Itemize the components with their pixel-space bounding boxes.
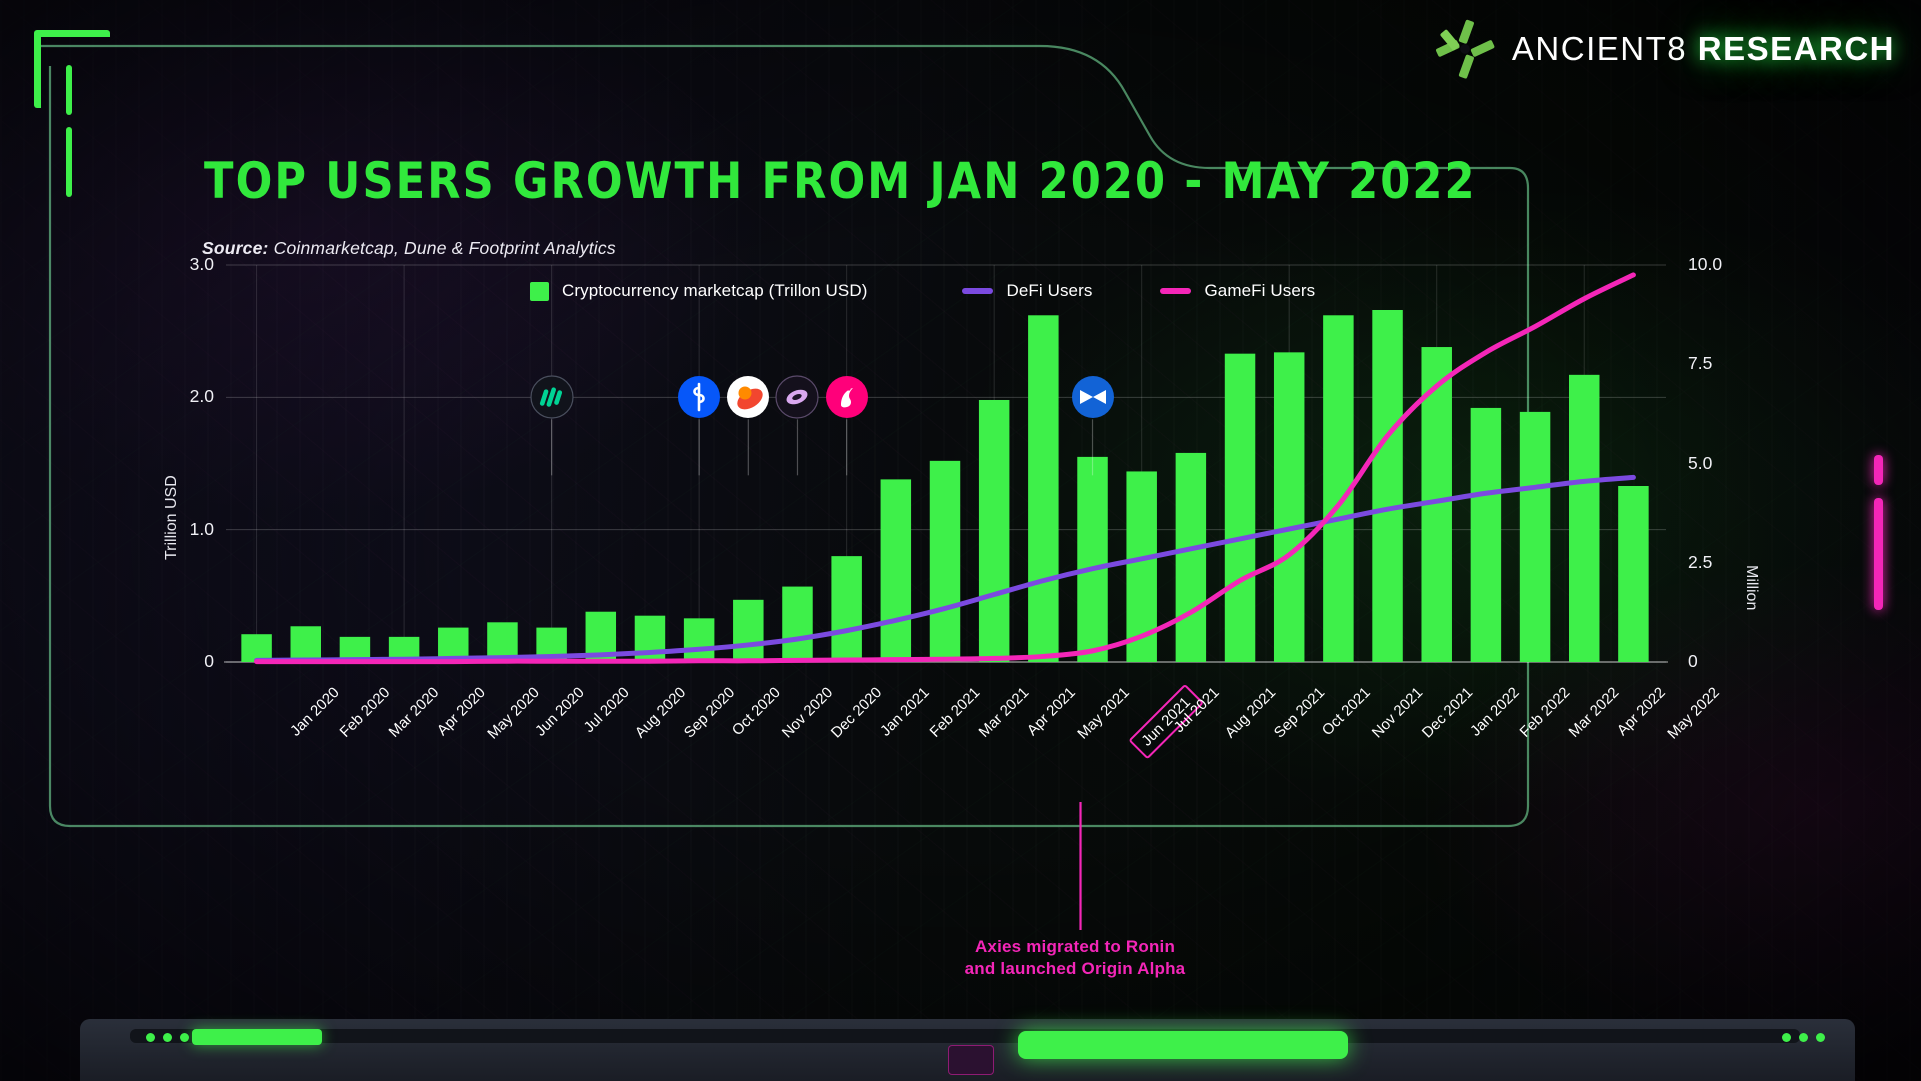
brand-name: ANCIENT8 RESEARCH bbox=[1512, 30, 1895, 68]
corner-tick-icon bbox=[66, 65, 72, 115]
status-dot-icon bbox=[1782, 1033, 1791, 1042]
legend-swatch-icon bbox=[530, 282, 549, 301]
source-label: Source: bbox=[202, 238, 269, 258]
brand-name-primary: ANCIENT8 bbox=[1512, 30, 1687, 67]
source-text: Coinmarketcap, Dune & Footprint Analytic… bbox=[269, 238, 616, 258]
chart-annotation: Axies migrated to Ronin and launched Ori… bbox=[905, 936, 1245, 980]
corner-bracket-icon bbox=[34, 30, 110, 108]
brand-header: ANCIENT8 RESEARCH bbox=[1434, 18, 1895, 80]
status-dot-icon bbox=[1799, 1033, 1808, 1042]
annotation-line-1: Axies migrated to Ronin bbox=[975, 937, 1175, 956]
accent-bar-left bbox=[192, 1029, 322, 1045]
chart-legend: Cryptocurrency marketcap (Trillon USD) D… bbox=[530, 281, 1315, 301]
status-dot-icon bbox=[1816, 1033, 1825, 1042]
legend-label: GameFi Users bbox=[1204, 281, 1315, 301]
device-frame-slot bbox=[130, 1029, 1800, 1043]
y-axis-label-left: Trillion USD bbox=[163, 475, 181, 560]
annotation-line-2: and launched Origin Alpha bbox=[965, 959, 1186, 978]
accent-bar-center bbox=[1018, 1031, 1348, 1059]
legend-label: DeFi Users bbox=[1006, 281, 1092, 301]
status-dot-icon bbox=[180, 1033, 189, 1042]
legend-item-marketcap[interactable]: Cryptocurrency marketcap (Trillon USD) bbox=[530, 281, 867, 301]
status-dot-icon bbox=[146, 1033, 155, 1042]
legend-line-icon bbox=[962, 288, 993, 294]
page-title: TOP USERS GROWTH FROM JAN 2020 - MAY 202… bbox=[204, 152, 1477, 210]
edge-accent-bar bbox=[1874, 455, 1883, 485]
status-dots-left bbox=[146, 1033, 189, 1042]
edge-accent-bar-2 bbox=[1874, 498, 1883, 610]
brand-name-secondary: RESEARCH bbox=[1698, 30, 1895, 67]
status-dot-icon bbox=[163, 1033, 172, 1042]
legend-item-gamefi-users[interactable]: GameFi Users bbox=[1160, 281, 1315, 301]
status-dots-right bbox=[1782, 1033, 1825, 1042]
y-axis-label-right: Million bbox=[1742, 565, 1760, 610]
legend-line-icon bbox=[1160, 288, 1191, 294]
legend-label: Cryptocurrency marketcap (Trillon USD) bbox=[562, 281, 867, 301]
corner-tick-icon-2 bbox=[66, 127, 72, 197]
source-line: Source: Coinmarketcap, Dune & Footprint … bbox=[202, 238, 616, 259]
legend-item-defi-users[interactable]: DeFi Users bbox=[962, 281, 1092, 301]
device-chip-icon bbox=[948, 1045, 994, 1075]
ancient8-pinwheel-icon bbox=[1434, 18, 1496, 80]
